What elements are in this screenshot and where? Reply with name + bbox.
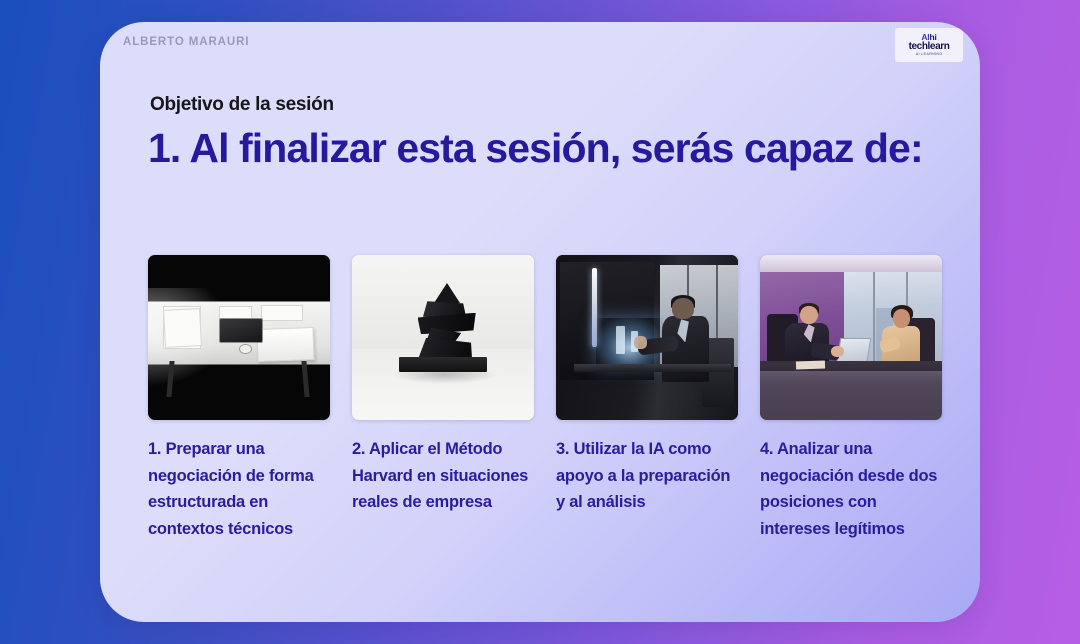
objective-caption-3: 3. Utilizar la IA como apoyo a la prepar…: [556, 436, 738, 516]
logo-wordmark: techlearn: [909, 42, 950, 52]
desk-with-documents-photo: [148, 255, 330, 420]
slide-card: ALBERTO MARAURI AIhi techlearn AI LEARNI…: [100, 22, 980, 622]
logo-mark-icon: AIhi: [921, 33, 936, 42]
slide-stage: ALBERTO MARAURI AIhi techlearn AI LEARNI…: [0, 0, 1080, 644]
objective-caption-1: 1. Preparar una negociación de forma est…: [148, 436, 330, 543]
logo-tagline: AI LEARNING: [916, 53, 943, 57]
presenter-name: ALBERTO MARAURI: [123, 36, 249, 48]
objective-item-4: 4. Analizar una negociación desde dos po…: [760, 255, 942, 543]
slide-eyebrow: Objetivo de la sesión: [150, 94, 334, 116]
slide-headline: 1. Al finalizar esta sesión, serás capaz…: [148, 122, 938, 174]
objective-caption-2: 2. Aplicar el Método Harvard en situacio…: [352, 436, 534, 516]
logo-mark-accent: hi: [929, 32, 936, 42]
objective-item-3: 3. Utilizar la IA como apoyo a la prepar…: [556, 255, 738, 543]
black-faceted-sculpture-photo: [352, 255, 534, 420]
objective-item-2: 2. Aplicar el Método Harvard en situacio…: [352, 255, 534, 543]
objective-caption-4: 4. Analizar una negociación desde dos po…: [760, 436, 942, 543]
businessman-holographic-display-photo: [556, 255, 738, 420]
brand-logo: AIhi techlearn AI LEARNING: [895, 28, 963, 62]
objective-item-1: 1. Preparar una negociación de forma est…: [148, 255, 330, 543]
two-people-negotiating-photo: [760, 255, 942, 420]
objectives-row: 1. Preparar una negociación de forma est…: [148, 255, 948, 543]
slide-topbar: ALBERTO MARAURI AIhi techlearn AI LEARNI…: [100, 22, 980, 74]
